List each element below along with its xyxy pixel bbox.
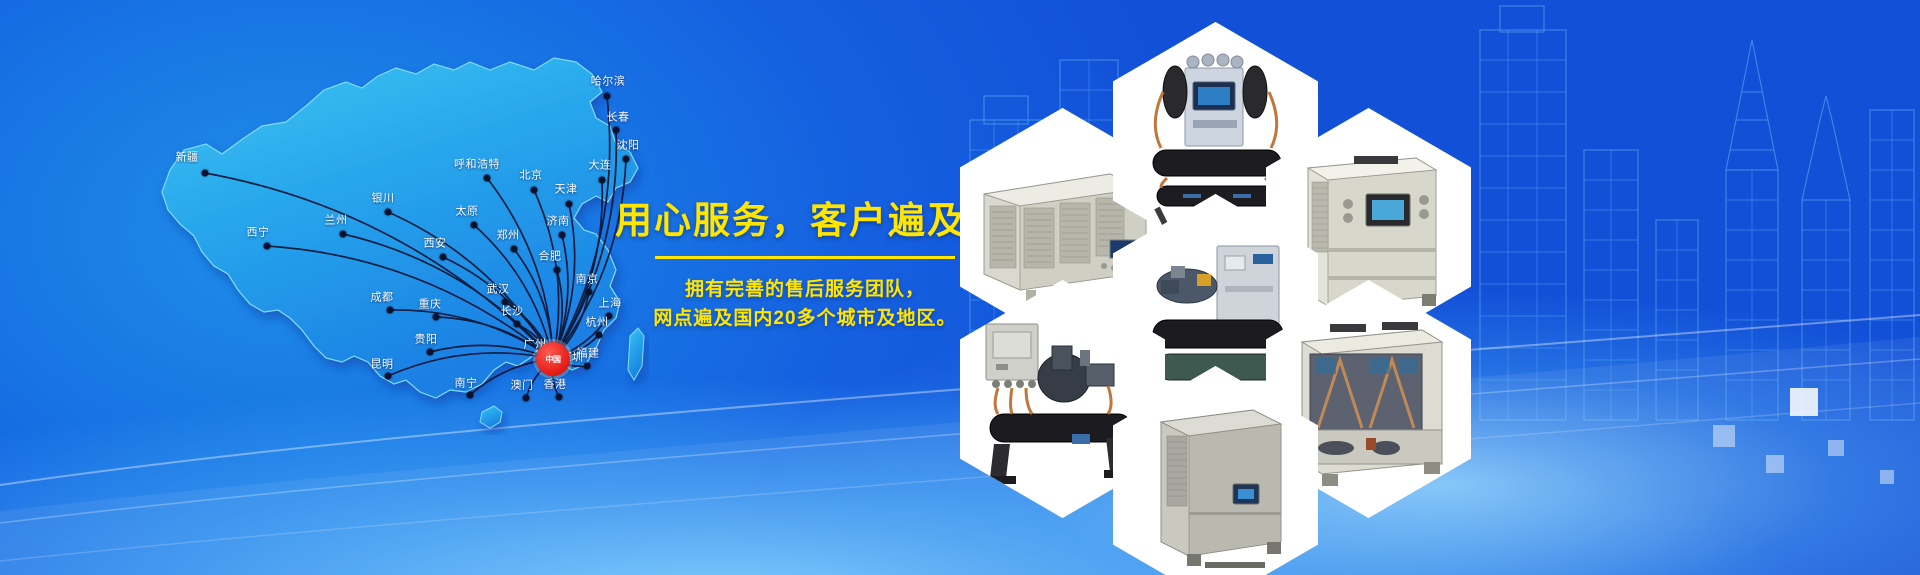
city-dot[interactable]: [566, 201, 573, 208]
decorative-square: [1880, 470, 1894, 484]
city-label: 香港: [544, 380, 567, 391]
city-dot[interactable]: [202, 170, 209, 177]
city-dot[interactable]: [264, 243, 271, 250]
city-label: 武汉: [487, 285, 510, 296]
city-label: 长春: [607, 113, 630, 124]
city-label: 合肥: [539, 252, 562, 263]
city-label: 重庆: [419, 300, 442, 311]
city-label: 西宁: [247, 228, 270, 239]
city-dot[interactable]: [427, 349, 434, 356]
city-dot[interactable]: [385, 373, 392, 380]
decorative-square: [1790, 388, 1818, 416]
decorative-square: [1828, 440, 1844, 456]
city-dot[interactable]: [511, 246, 518, 253]
city-dot[interactable]: [596, 332, 603, 339]
city-label: 太原: [456, 207, 479, 218]
banner-subtext-line2: 网点遍及国内20多个城市及地区。: [615, 304, 995, 333]
city-label: 昆明: [371, 360, 394, 371]
city-label: 新疆: [176, 153, 199, 164]
city-dot[interactable]: [559, 232, 566, 239]
city-dot[interactable]: [484, 175, 491, 182]
city-label: 北京: [520, 171, 543, 182]
hub-marker-shenzhen[interactable]: 中国: [536, 342, 570, 376]
banner-subtext-line1: 拥有完善的售后服务团队，: [615, 275, 995, 304]
city-label: 南宁: [455, 379, 478, 390]
city-label: 济南: [547, 217, 570, 228]
city-dot[interactable]: [340, 231, 347, 238]
city-label: 郑州: [497, 231, 520, 242]
city-dot[interactable]: [623, 156, 630, 163]
city-dot[interactable]: [584, 363, 591, 370]
decorative-square: [1766, 455, 1784, 473]
city-dot[interactable]: [599, 177, 606, 184]
city-label: 兰州: [325, 216, 348, 227]
banner-headline: 用心服务，客户遍及全国: [615, 200, 995, 243]
banner-text-block: 用心服务，客户遍及全国 拥有完善的售后服务团队， 网点遍及国内20多个城市及地区…: [615, 200, 995, 333]
city-label: 杭州: [586, 318, 609, 329]
city-dot[interactable]: [586, 289, 593, 296]
decorative-square: [1713, 425, 1735, 447]
city-dot[interactable]: [385, 209, 392, 216]
headline-divider: [655, 256, 955, 259]
city-label: 澳门: [511, 381, 534, 392]
city-label: 大连: [589, 161, 612, 172]
city-label: 贵阳: [415, 335, 438, 346]
city-dot[interactable]: [440, 254, 447, 261]
city-dot[interactable]: [554, 267, 561, 274]
china-map: 新疆西宁兰州银川呼和浩特北京天津大连沈阳长春哈尔滨太原西安郑州济南合肥南京上海杭…: [110, 18, 670, 438]
city-label: 哈尔滨: [591, 77, 626, 88]
hub-marker-label: 中国: [546, 354, 561, 365]
city-label: 银川: [372, 194, 395, 205]
city-dot[interactable]: [613, 127, 620, 134]
city-label: 南京: [576, 275, 599, 286]
city-dot[interactable]: [514, 321, 521, 328]
city-dot[interactable]: [556, 394, 563, 401]
city-dot[interactable]: [502, 299, 509, 306]
city-dot[interactable]: [467, 392, 474, 399]
city-dot[interactable]: [387, 307, 394, 314]
city-dot[interactable]: [523, 395, 530, 402]
service-network-banner: 新疆西宁兰州银川呼和浩特北京天津大连沈阳长春哈尔滨太原西安郑州济南合肥南京上海杭…: [0, 0, 1920, 575]
city-dot[interactable]: [471, 222, 478, 229]
city-dot[interactable]: [604, 93, 611, 100]
city-dot[interactable]: [433, 314, 440, 321]
city-label: 沈阳: [617, 141, 640, 152]
product-photo-collage: [960, 0, 1600, 575]
city-label: 呼和浩特: [454, 160, 500, 171]
city-label: 天津: [555, 185, 578, 196]
city-label: 成都: [371, 293, 394, 304]
city-label: 西安: [424, 239, 447, 250]
city-label: 长沙: [501, 307, 524, 318]
city-dot[interactable]: [531, 187, 538, 194]
banner-subtext: 拥有完善的售后服务团队， 网点遍及国内20多个城市及地区。: [615, 275, 995, 334]
